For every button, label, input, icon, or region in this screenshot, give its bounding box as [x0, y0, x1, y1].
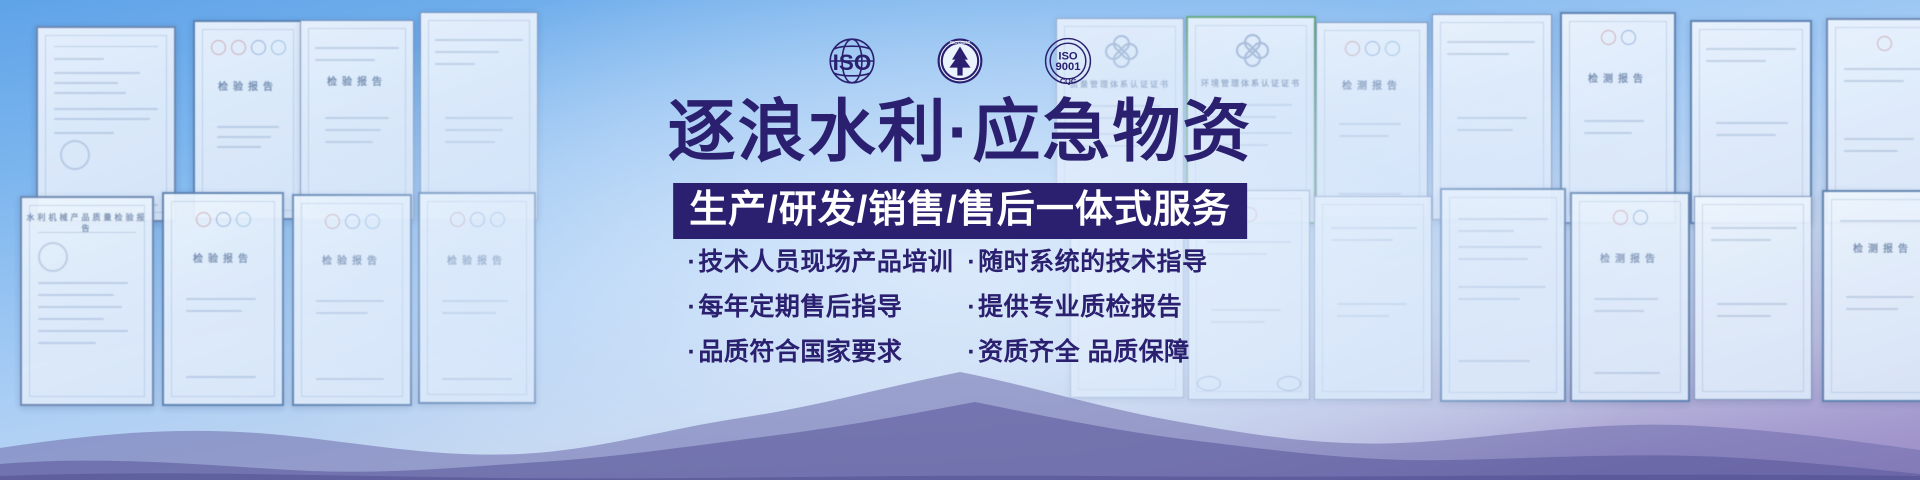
bullet-marker-icon: · — [967, 338, 976, 366]
iso14000-environment-badge: ISO14000 — [927, 30, 993, 92]
banner-subtitle-bar: 生产/研发/销售/售后一体式服务 — [673, 183, 1247, 239]
iso14000-badge-label: ISO14000 — [950, 40, 971, 45]
bullet-marker-icon: · — [688, 293, 697, 321]
feature-bullet-label: 每年定期售后指导 — [698, 293, 902, 321]
feature-bullet-item: ·提供专业质检报告 — [967, 293, 1232, 322]
iso-badge-label: ISO — [833, 50, 872, 75]
iso-globe-badge: ISO — [819, 30, 885, 92]
bullet-marker-icon: · — [688, 338, 697, 366]
banner-title: 逐浪水利·应急物资 — [668, 98, 1253, 166]
feature-bullet-list: ·技术人员现场产品培训 ·随时系统的技术指导 ·每年定期售后指导 ·提供专业质检… — [688, 248, 1233, 366]
feature-bullet-label: 提供专业质检报告 — [978, 293, 1182, 321]
promotional-banner: 检验报告 检验报告 — [0, 0, 1920, 480]
feature-bullet-item: ·品质符合国家要求 — [688, 338, 954, 367]
bullet-marker-icon: · — [688, 248, 697, 276]
certification-badge-row: ISO ISO14000 — [819, 30, 1101, 92]
bullet-marker-icon: · — [967, 293, 976, 321]
feature-bullet-label: 品质符合国家要求 — [698, 338, 902, 366]
feature-bullet-label: 随时系统的技术指导 — [978, 248, 1208, 276]
iso9001-cqc-badge: ISO 9001 CQC — [1035, 30, 1101, 92]
feature-bullet-item: ·每年定期售后指导 — [688, 293, 954, 322]
feature-bullet-label: 技术人员现场产品培训 — [698, 248, 953, 276]
cqc-badge-mark: CQC — [1060, 76, 1077, 85]
feature-bullet-label: 资质齐全 品质保障 — [978, 338, 1189, 366]
iso9001-badge-label-bottom: 9001 — [1056, 61, 1081, 73]
feature-bullet-item: ·随时系统的技术指导 — [967, 248, 1232, 277]
bullet-marker-icon: · — [967, 248, 976, 276]
feature-bullet-item: ·技术人员现场产品培训 — [688, 248, 954, 277]
feature-bullet-item: ·资质齐全 品质保障 — [967, 338, 1232, 367]
banner-content: ISO ISO14000 — [0, 0, 1920, 480]
